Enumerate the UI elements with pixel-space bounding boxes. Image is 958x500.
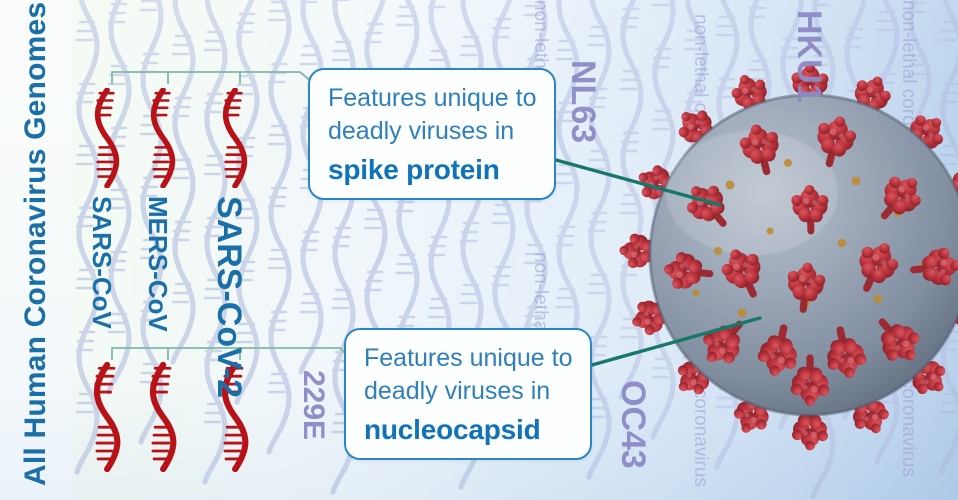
nonlethal-label-oc43: OC43 <box>616 380 650 469</box>
callout-line-2: deadly viruses in <box>328 115 536 148</box>
virus-label-mers-cov: MERS-CoV <box>145 196 171 332</box>
nonlethal-label-229e: 229E <box>298 370 328 440</box>
sars-cov-2-virion-illustration <box>610 55 958 475</box>
title-band: All Human Coronavirus Genomes <box>0 0 72 500</box>
callout-emphasis: nucleocapsid <box>364 411 572 448</box>
virus-label-sars-cov: SARS-CoV <box>89 196 115 329</box>
callout-emphasis: spike protein <box>328 151 536 188</box>
red-genome-strand-bottom-sars-cov <box>89 362 123 477</box>
watermark-text: non-lethal coronavirus <box>691 300 710 487</box>
red-genome-strand-top-mers-cov <box>145 88 179 193</box>
callout-line-1: Features unique to <box>328 82 536 115</box>
red-genome-strand-top-sars-cov <box>89 88 123 193</box>
nucleocapsid-leader-line <box>592 318 760 365</box>
watermark-text: non-lethal coronavirus <box>899 290 918 477</box>
red-genome-strand-bottom-mers-cov <box>145 362 179 477</box>
nonlethal-label-nl63: NL63 <box>566 60 600 143</box>
watermark-text: non-lethal coronavirus <box>899 0 918 187</box>
page-title: All Human Coronavirus Genomes <box>0 0 72 500</box>
red-genome-strand-top-sars-cov-2 <box>217 88 251 193</box>
nonlethal-label-hku1: HKU1 <box>792 10 826 103</box>
callout-line-1: Features unique to <box>364 342 572 375</box>
callout-spike-protein: Features unique todeadly viruses inspike… <box>308 68 556 200</box>
spike-leader-line <box>556 160 720 205</box>
virus-label-sars-cov-2: SARS-CoV-2 <box>212 196 246 398</box>
callout-nucleocapsid: Features unique todeadly viruses innucle… <box>344 328 592 460</box>
spike-bracket <box>112 72 312 84</box>
infographic-canvas: non-lethal coronavirusnon-lethal coronav… <box>0 0 958 500</box>
callout-line-2: deadly viruses in <box>364 375 572 408</box>
watermark-text: non-lethal coronavirus <box>691 14 710 201</box>
